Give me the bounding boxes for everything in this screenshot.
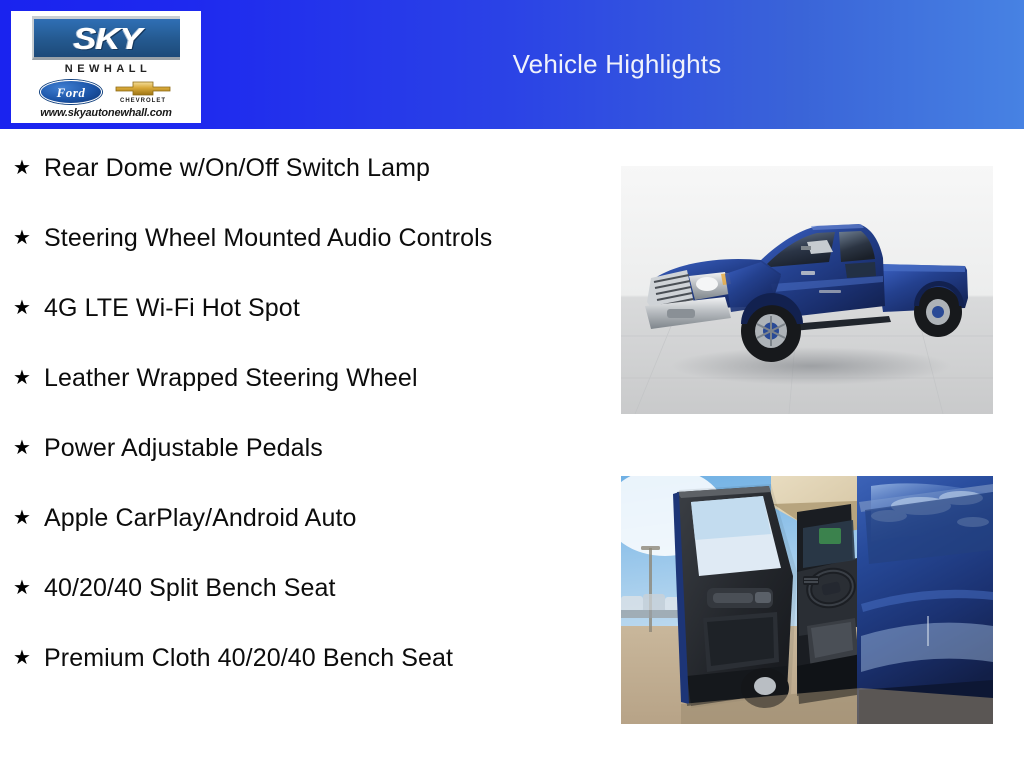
feature-label: 4G LTE Wi-Fi Hot Spot bbox=[44, 291, 510, 325]
feature-label: 40/20/40 Split Bench Seat bbox=[44, 571, 510, 605]
list-item: ★ 40/20/40 Split Bench Seat bbox=[0, 571, 600, 605]
oem-badges: Ford CHEVROLET bbox=[40, 79, 172, 105]
sky-logo-plate: SKY bbox=[32, 16, 180, 60]
star-bullet-icon: ★ bbox=[13, 501, 44, 535]
ford-wordmark: Ford bbox=[57, 86, 86, 99]
star-bullet-icon: ★ bbox=[13, 571, 44, 605]
list-item: ★ Premium Cloth 40/20/40 Bench Seat bbox=[0, 641, 600, 675]
list-item: ★ 4G LTE Wi-Fi Hot Spot bbox=[0, 291, 600, 325]
feature-label: Rear Dome w/On/Off Switch Lamp bbox=[44, 151, 510, 185]
chevrolet-wordmark: CHEVROLET bbox=[120, 98, 166, 104]
feature-label: Power Adjustable Pedals bbox=[44, 431, 510, 465]
dealer-logo[interactable]: SKY NEWHALL Ford bbox=[11, 11, 201, 123]
chevrolet-logo-icon: CHEVROLET bbox=[114, 80, 172, 104]
page-title: Vehicle Highlights bbox=[210, 0, 1024, 129]
star-bullet-icon: ★ bbox=[13, 431, 44, 465]
chevy-bowtie-icon bbox=[114, 80, 172, 97]
feature-label: Leather Wrapped Steering Wheel bbox=[44, 361, 510, 395]
star-bullet-icon: ★ bbox=[13, 641, 44, 675]
feature-label: Premium Cloth 40/20/40 Bench Seat bbox=[44, 641, 510, 675]
star-bullet-icon: ★ bbox=[13, 151, 44, 185]
feature-label: Apple CarPlay/Android Auto bbox=[44, 501, 510, 535]
ford-logo-icon: Ford bbox=[40, 80, 102, 104]
feature-label: Steering Wheel Mounted Audio Controls bbox=[44, 221, 510, 255]
list-item: ★ Steering Wheel Mounted Audio Controls bbox=[0, 221, 600, 255]
feature-list: ★ Rear Dome w/On/Off Switch Lamp ★ Steer… bbox=[0, 129, 600, 675]
list-item: ★ Apple CarPlay/Android Auto bbox=[0, 501, 600, 535]
list-item: ★ Power Adjustable Pedals bbox=[0, 431, 600, 465]
vehicle-photo-exterior[interactable] bbox=[621, 166, 993, 414]
vehicle-photo-interior[interactable] bbox=[621, 476, 993, 724]
star-bullet-icon: ★ bbox=[13, 361, 44, 395]
star-bullet-icon: ★ bbox=[13, 221, 44, 255]
vehicle-highlights-slide: Vehicle Highlights SKY NEWHALL Ford bbox=[0, 0, 1024, 768]
list-item: ★ Rear Dome w/On/Off Switch Lamp bbox=[0, 151, 600, 185]
star-bullet-icon: ★ bbox=[13, 291, 44, 325]
list-item: ★ Leather Wrapped Steering Wheel bbox=[0, 361, 600, 395]
sky-wordmark: SKY bbox=[73, 23, 141, 54]
dealer-website-url: www.skyautonewhall.com bbox=[40, 108, 172, 119]
dealer-location-label: NEWHALL bbox=[61, 64, 152, 75]
